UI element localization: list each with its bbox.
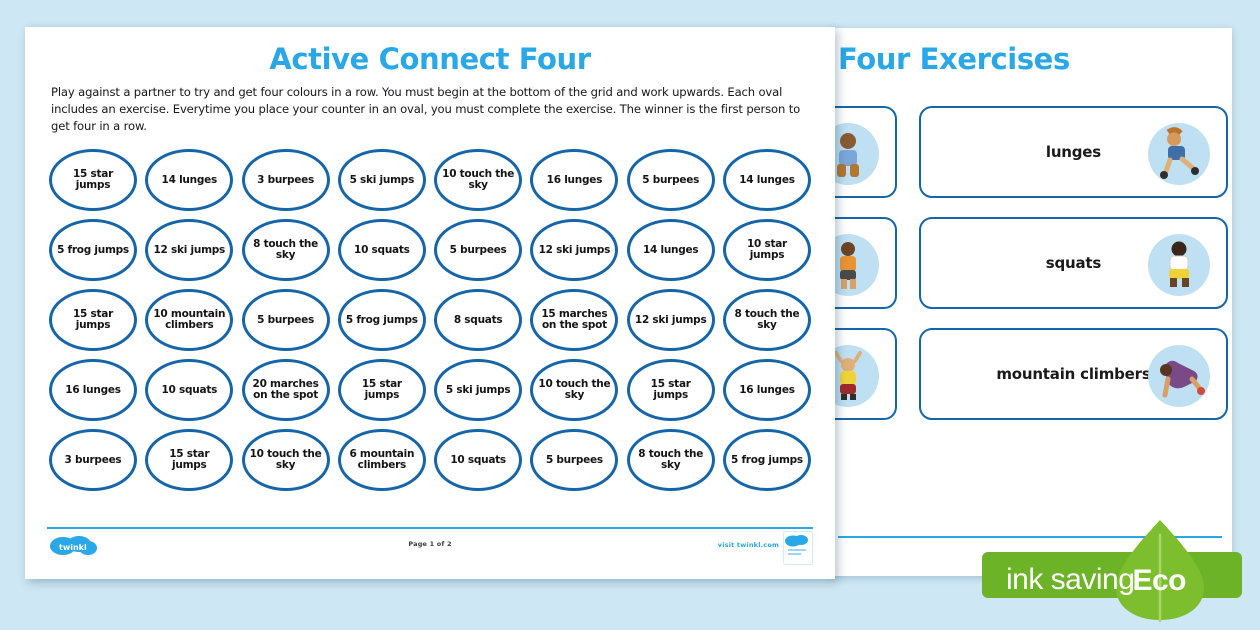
- grid-cell-label: 8 touch the sky: [245, 239, 327, 263]
- grid-cell[interactable]: 10 mountain climbers: [145, 289, 233, 351]
- grid-cell-label: 3 burpees: [254, 175, 317, 187]
- climber-figure-icon: [1148, 345, 1210, 407]
- exercise-card-lunges[interactable]: lunges: [919, 106, 1228, 198]
- grid-row-5: 3 burpees 15 star jumps 10 touch the sky…: [49, 429, 811, 491]
- exercise-card-label: lunges: [1046, 144, 1101, 161]
- grid-cell[interactable]: 8 touch the sky: [242, 219, 330, 281]
- grid-cell-label: 5 burpees: [543, 455, 606, 467]
- grid-cell-label: 15 star jumps: [148, 449, 230, 473]
- grid-cell-label: 8 squats: [451, 315, 506, 327]
- grid-cell[interactable]: 5 frog jumps: [338, 289, 426, 351]
- grid-row-1: 15 star jumps 14 lunges 3 burpees 5 ski …: [49, 149, 811, 211]
- grid-cell-label: 5 ski jumps: [347, 175, 417, 187]
- grid-row-2: 5 frog jumps 12 ski jumps 8 touch the sk…: [49, 219, 811, 281]
- grid-cell[interactable]: 8 touch the sky: [723, 289, 811, 351]
- grid-cell[interactable]: 8 squats: [434, 289, 522, 351]
- exercise-card-partial-2[interactable]: [828, 217, 897, 309]
- grid-cell-label: 5 burpees: [447, 245, 510, 257]
- exercise-card-grid: lunges: [828, 106, 1228, 439]
- grid-cell[interactable]: 15 star jumps: [49, 289, 137, 351]
- grid-cell[interactable]: 20 marches on the spot: [242, 359, 330, 421]
- grid-cell-label: 20 marches on the spot: [245, 379, 327, 403]
- grid-cell[interactable]: 12 ski jumps: [530, 219, 618, 281]
- grid-cell[interactable]: 12 ski jumps: [145, 219, 233, 281]
- grid-cell-label: 10 star jumps: [726, 239, 808, 263]
- grid-cell-label: 10 squats: [158, 385, 220, 397]
- grid-cell-label: 5 frog jumps: [728, 455, 806, 467]
- page-footer: twinkl Page 1 of 2 visit twinkl.com: [47, 531, 813, 565]
- grid-cell-label: 16 lunges: [736, 385, 797, 397]
- grid-cell-label: 12 ski jumps: [632, 315, 710, 327]
- grid-cell-label: 5 burpees: [639, 175, 702, 187]
- exercise-row: mountain climbers: [828, 328, 1228, 420]
- exercise-card-label: mountain climbers: [996, 366, 1150, 383]
- exercise-row: lunges: [828, 106, 1228, 198]
- grid-cell-label: 16 lunges: [62, 385, 123, 397]
- grid-cell[interactable]: 5 frog jumps: [49, 219, 137, 281]
- squat-figure-icon: [828, 123, 879, 185]
- eco-word-text: Eco: [1132, 564, 1186, 598]
- grid-cell-label: 8 touch the sky: [630, 449, 712, 473]
- screenshot-stage: Four Exercises lunges: [0, 0, 1260, 630]
- grid-cell[interactable]: 10 squats: [434, 429, 522, 491]
- grid-cell[interactable]: 14 lunges: [723, 149, 811, 211]
- grid-cell[interactable]: 16 lunges: [49, 359, 137, 421]
- visit-link[interactable]: visit twinkl.com: [718, 541, 779, 549]
- grid-cell[interactable]: 15 marches on the spot: [530, 289, 618, 351]
- grid-row-4: 16 lunges 10 squats 20 marches on the sp…: [49, 359, 811, 421]
- grid-cell-label: 15 star jumps: [630, 379, 712, 403]
- grid-cell-label: 16 lunges: [544, 175, 605, 187]
- grid-cell[interactable]: 15 star jumps: [49, 149, 137, 211]
- grid-cell-label: 10 squats: [447, 455, 509, 467]
- grid-cell[interactable]: 8 touch the sky: [627, 429, 715, 491]
- grid-cell-label: 15 marches on the spot: [533, 309, 615, 333]
- grid-cell-label: 15 star jumps: [52, 309, 134, 333]
- grid-cell-label: 12 ski jumps: [536, 245, 614, 257]
- grid-cell[interactable]: 5 burpees: [434, 219, 522, 281]
- grid-cell-label: 5 ski jumps: [443, 385, 513, 397]
- grid-cell-label: 15 star jumps: [341, 379, 423, 403]
- grid-cell-label: 5 frog jumps: [54, 245, 132, 257]
- jump-figure-icon: [828, 234, 879, 296]
- grid-cell-label: 8 touch the sky: [726, 309, 808, 333]
- exercise-card-partial-3[interactable]: [828, 328, 897, 420]
- grid-cell[interactable]: 12 ski jumps: [627, 289, 715, 351]
- grid-cell[interactable]: 15 star jumps: [145, 429, 233, 491]
- grid-cell[interactable]: 15 star jumps: [338, 359, 426, 421]
- grid-cell-label: 10 squats: [351, 245, 413, 257]
- grid-cell[interactable]: 10 touch the sky: [434, 149, 522, 211]
- eco-ink-saving-text: ink saving: [1006, 563, 1134, 597]
- right-page-title: Four Exercises: [838, 42, 1070, 76]
- grid-cell[interactable]: 10 touch the sky: [242, 429, 330, 491]
- exercise-row: squats: [828, 217, 1228, 309]
- page-title: Active Connect Four: [25, 42, 835, 76]
- grid-cell[interactable]: 10 touch the sky: [530, 359, 618, 421]
- ink-saving-eco-badge: ink saving Eco: [982, 542, 1242, 598]
- grid-cell[interactable]: 14 lunges: [627, 219, 715, 281]
- grid-cell-label: 12 ski jumps: [151, 245, 229, 257]
- footer-divider: [47, 527, 813, 530]
- grid-cell-label: 14 lunges: [736, 175, 797, 187]
- grid-cell[interactable]: 5 frog jumps: [723, 429, 811, 491]
- grid-cell[interactable]: 14 lunges: [145, 149, 233, 211]
- grid-cell-label: 14 lunges: [159, 175, 220, 187]
- left-worksheet-page: Active Connect Four Play against a partn…: [25, 27, 835, 579]
- grid-cell[interactable]: 10 star jumps: [723, 219, 811, 281]
- right-worksheet-page: Four Exercises lunges: [828, 28, 1232, 576]
- grid-cell[interactable]: 5 burpees: [627, 149, 715, 211]
- connect-four-grid: 15 star jumps 14 lunges 3 burpees 5 ski …: [49, 149, 811, 491]
- grid-row-3: 15 star jumps 10 mountain climbers 5 bur…: [49, 289, 811, 351]
- grid-cell[interactable]: 5 burpees: [530, 429, 618, 491]
- grid-cell-label: 5 burpees: [254, 315, 317, 327]
- page-number: Page 1 of 2: [47, 540, 813, 548]
- grid-cell[interactable]: 5 ski jumps: [434, 359, 522, 421]
- exercise-card-mountain-climbers[interactable]: mountain climbers: [919, 328, 1228, 420]
- grid-cell-label: 14 lunges: [640, 245, 701, 257]
- grid-cell[interactable]: 15 star jumps: [627, 359, 715, 421]
- grid-cell[interactable]: 10 squats: [338, 219, 426, 281]
- lunge-figure-icon: [1148, 123, 1210, 185]
- twinkl-badge-icon: [783, 531, 813, 565]
- squat-figure-icon: [1148, 234, 1210, 296]
- grid-cell[interactable]: 16 lunges: [530, 149, 618, 211]
- grid-cell-label: 5 frog jumps: [343, 315, 421, 327]
- instructions-text: Play against a partner to try and get fo…: [51, 84, 809, 135]
- grid-cell-label: 10 touch the sky: [245, 449, 327, 473]
- grid-cell-label: 10 mountain climbers: [148, 309, 230, 333]
- grid-cell[interactable]: 3 burpees: [242, 149, 330, 211]
- grid-cell-label: 15 star jumps: [52, 169, 134, 193]
- exercise-card-squats[interactable]: squats: [919, 217, 1228, 309]
- grid-cell[interactable]: 3 burpees: [49, 429, 137, 491]
- grid-cell[interactable]: 16 lunges: [723, 359, 811, 421]
- grid-cell[interactable]: 6 mountain climbers: [338, 429, 426, 491]
- grid-cell-label: 10 touch the sky: [533, 379, 615, 403]
- reach-figure-icon: [828, 345, 879, 407]
- grid-cell-label: 6 mountain climbers: [341, 449, 423, 473]
- grid-cell-label: 10 touch the sky: [437, 169, 519, 193]
- exercise-card-partial-1[interactable]: [828, 106, 897, 198]
- exercise-card-label: squats: [1046, 255, 1101, 272]
- grid-cell[interactable]: 5 ski jumps: [338, 149, 426, 211]
- grid-cell[interactable]: 5 burpees: [242, 289, 330, 351]
- grid-cell-label: 3 burpees: [62, 455, 125, 467]
- grid-cell[interactable]: 10 squats: [145, 359, 233, 421]
